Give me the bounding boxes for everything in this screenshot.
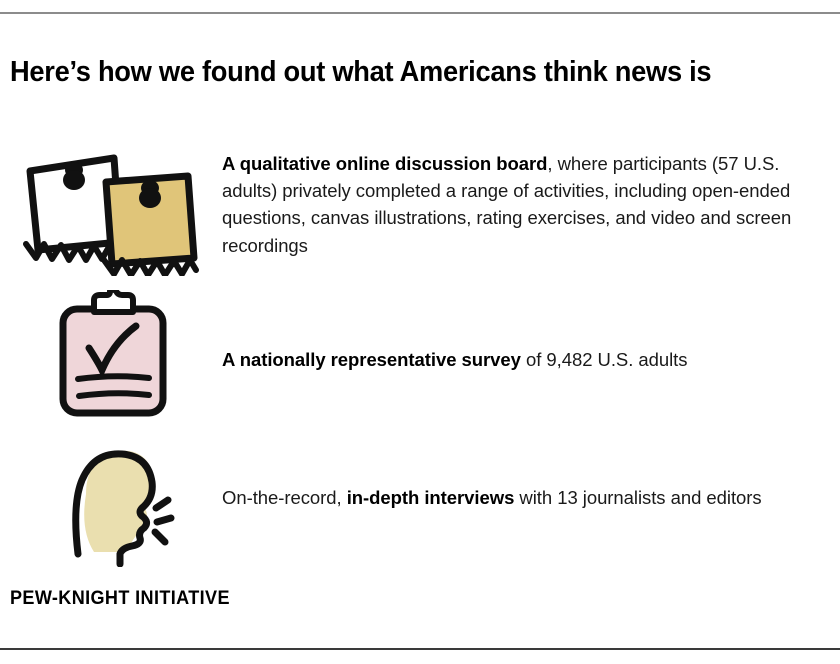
icon-cell [0, 288, 222, 420]
method-lead: A qualitative online discussion board [222, 153, 547, 174]
bottom-divider [0, 648, 840, 650]
icon-cell [0, 142, 222, 276]
method-body: of 9,482 U.S. adults [521, 349, 688, 370]
icon-cell [0, 440, 222, 567]
pushpin-icon [63, 162, 85, 190]
source-footer: PEW-KNIGHT INITIATIVE [10, 588, 230, 610]
speech-lines-icon [155, 500, 171, 542]
top-divider [0, 12, 840, 14]
speaking-head-icon [56, 442, 186, 567]
method-prefix: On-the-record, [222, 487, 347, 508]
clipboard-checklist-icon [52, 290, 177, 420]
sticky-notes-icon [22, 146, 202, 276]
method-lead: A nationally representative survey [222, 349, 521, 370]
method-description: A nationally representative survey of 9,… [222, 288, 840, 373]
method-description: On-the-record, in-depth interviews with … [222, 440, 840, 511]
method-description: A qualitative online discussion board, w… [222, 142, 840, 259]
method-lead: in-depth interviews [347, 487, 515, 508]
pushpin-icon [139, 180, 161, 208]
infographic-card: Here’s how we found out what Americans t… [0, 0, 840, 664]
method-row-discussion-board: A qualitative online discussion board, w… [0, 142, 840, 276]
method-body: with 13 journalists and editors [514, 487, 761, 508]
page-title: Here’s how we found out what Americans t… [10, 55, 724, 90]
method-row-interviews: On-the-record, in-depth interviews with … [0, 440, 840, 567]
method-row-survey: A nationally representative survey of 9,… [0, 288, 840, 420]
